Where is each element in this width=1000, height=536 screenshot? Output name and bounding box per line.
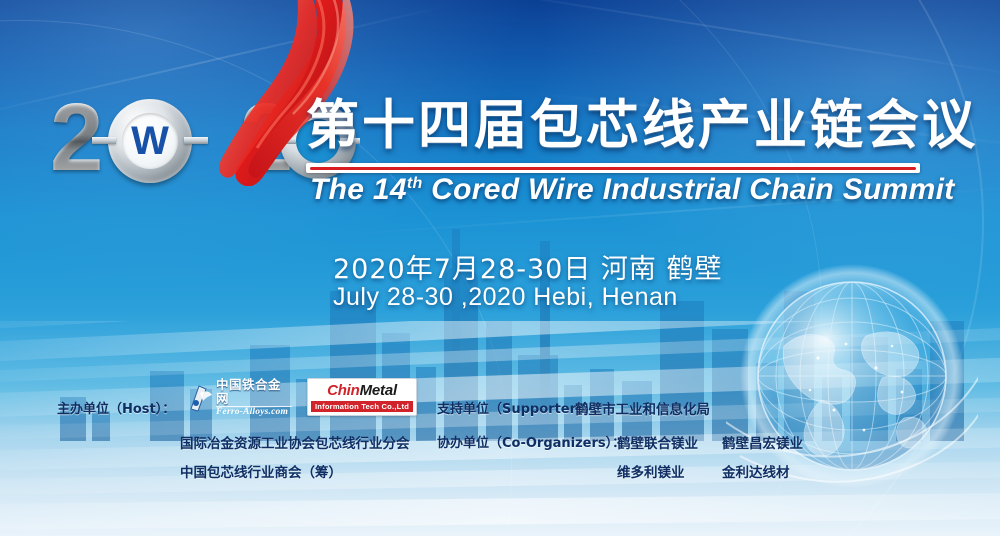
co-organizer-item: 鹤壁昌宏镁业 (722, 432, 803, 452)
ferro-alloys-logo-en: Ferro-Alloys.com (216, 406, 292, 418)
year-2020-logo: 2 W 2 (48, 97, 310, 183)
title-divider-rule (306, 163, 920, 173)
chinmetal-logo: ChinMetal Information Tech Co.,Ltd (307, 378, 417, 416)
conference-banner: 2 W 2 (0, 0, 1000, 536)
host-label: 主办单位（Host）： (57, 398, 175, 417)
title-en-rest: Cored Wire Industrial Chain Summit (423, 173, 955, 206)
title-en-prefix: The 14 (310, 173, 407, 206)
event-date-chinese: 2020年7月28-30日 河南 鹤壁 (333, 247, 723, 286)
ferro-alloys-logo: 中国铁合金网 Ferro-Alloys.com (188, 381, 292, 414)
ferro-alloys-logo-cn: 中国铁合金网 (216, 378, 292, 406)
ferro-alloys-mark-icon (188, 383, 214, 413)
supporters-value: 鹤壁市工业和信息化局 (575, 398, 710, 418)
co-organizer-item: 鹤壁联合镁业 (617, 432, 698, 452)
event-date-english: July 28-30 ,2020 Hebi, Henan (333, 283, 678, 312)
page-title-english: The 14th Cored Wire Industrial Chain Sum… (310, 173, 955, 207)
emblem-letter-w: W (108, 99, 192, 183)
page-title-chinese: 第十四届包芯线产业链会议 (306, 95, 978, 157)
host-organization-2: 国际冶金资源工业协会包芯线行业分会 (180, 432, 410, 452)
chinmetal-logo-wordmark: ChinMetal (327, 383, 397, 399)
host-organization-3: 中国包芯线行业商会（筹） (180, 461, 342, 481)
chinmetal-word-metal: Metal (360, 382, 397, 399)
chinmetal-word-chin: Chin (327, 382, 360, 399)
co-organizer-item: 金利达线材 (722, 461, 790, 481)
chinmetal-logo-subtitle: Information Tech Co.,Ltd (311, 401, 413, 412)
co-organizers-label: 协办单位（Co-Organizers）： (437, 432, 625, 451)
co-organizer-item: 维多利镁业 (617, 461, 685, 481)
title-en-ordinal-suffix: th (407, 175, 423, 192)
